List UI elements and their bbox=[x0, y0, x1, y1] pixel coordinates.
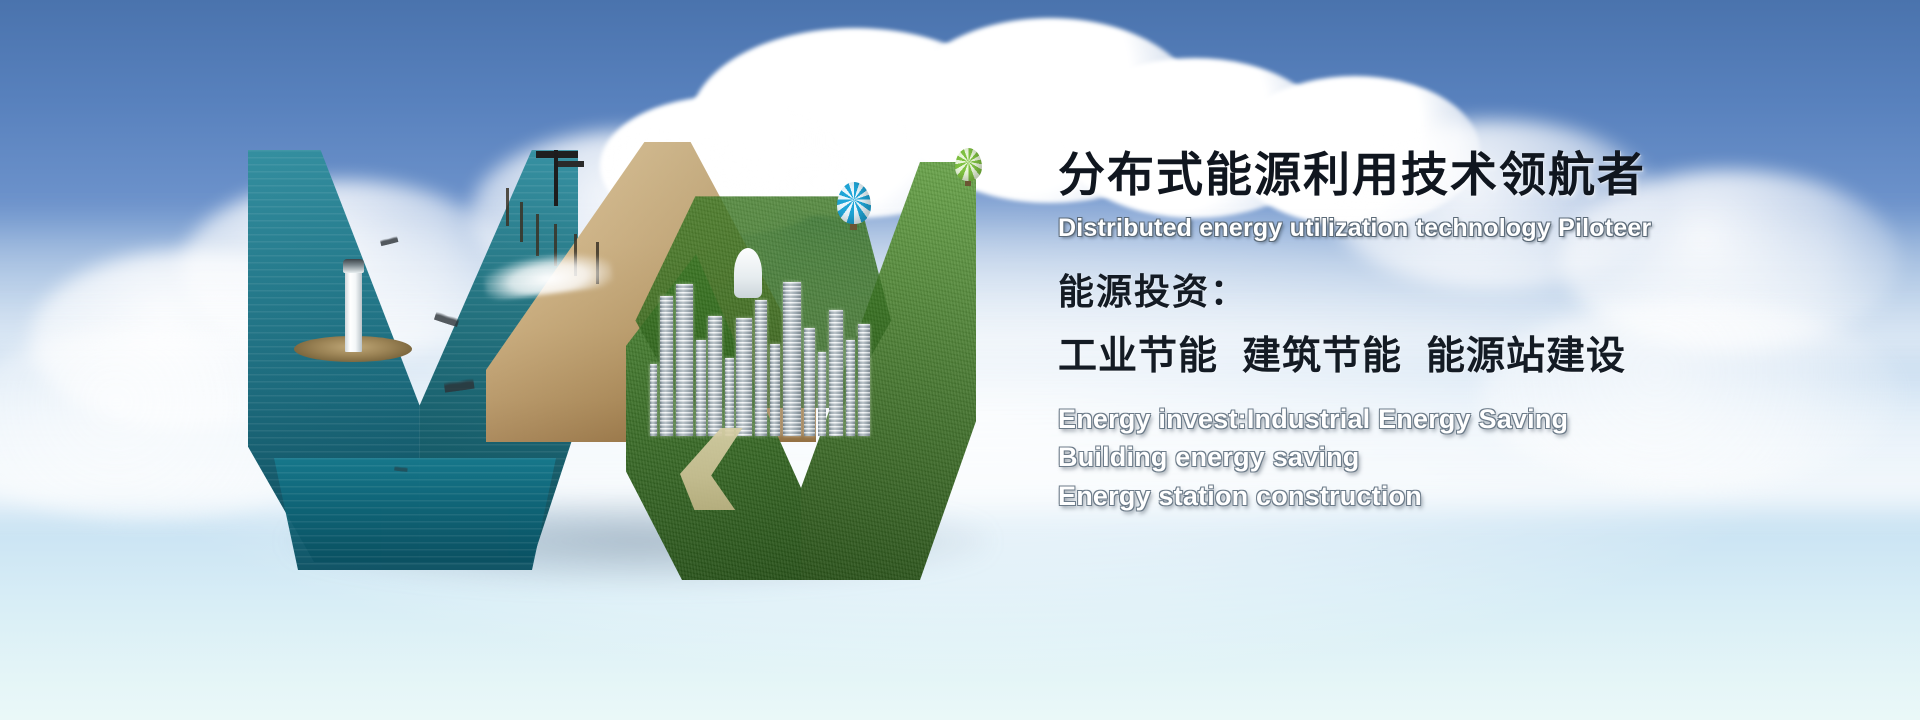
skyscraper-icon bbox=[676, 284, 693, 436]
lighthouse-lamp-icon bbox=[343, 259, 364, 273]
skyscraper-icon bbox=[858, 324, 870, 436]
skyscraper-icon bbox=[783, 282, 801, 436]
service-item-energy-station-construction: 能源站建设 bbox=[1426, 334, 1626, 379]
skyscraper-icon bbox=[660, 296, 673, 436]
service-line-english-3: Energy station construction bbox=[1058, 477, 1818, 515]
hero-banner: 分布式能源利用技术领航者 Distributed energy utilizat… bbox=[0, 0, 1920, 720]
lighthouse-icon bbox=[345, 270, 362, 352]
service-line-english-1: Energy invest:Industrial Energy Saving bbox=[1058, 400, 1818, 438]
skyscraper-icon bbox=[696, 340, 706, 436]
seagull-icon bbox=[380, 235, 399, 246]
skyscraper-icon bbox=[755, 300, 767, 436]
skyscraper-icon bbox=[846, 340, 855, 436]
w-letter-artwork bbox=[248, 128, 1038, 578]
skyscraper-icon bbox=[804, 328, 815, 436]
skyscraper-icon bbox=[829, 310, 843, 436]
skyscraper-icon bbox=[818, 352, 826, 436]
hot-air-balloon-icon bbox=[955, 148, 982, 181]
signpost-icon bbox=[554, 150, 558, 206]
signpost-arm-icon bbox=[558, 161, 584, 167]
fence-post-icon bbox=[506, 188, 509, 226]
section-label-energy-invest: 能源投资： bbox=[1058, 275, 1818, 311]
skyscraper-icon bbox=[650, 364, 657, 436]
water-ripple-texture bbox=[256, 458, 556, 570]
subtitle-english: Distributed energy utilization technolog… bbox=[1058, 216, 1818, 241]
skyscraper-icon bbox=[770, 344, 780, 436]
skyscraper-icon bbox=[725, 358, 734, 436]
ocean-front-face bbox=[256, 458, 556, 570]
service-line-english-2: Building energy saving bbox=[1058, 438, 1818, 476]
balloon-basket-icon bbox=[965, 181, 971, 186]
skyscraper-icon bbox=[736, 318, 752, 436]
fence-post-icon bbox=[536, 214, 539, 256]
page-title: 分布式能源利用技术领航者 bbox=[1058, 152, 1818, 199]
seagull-icon bbox=[434, 310, 460, 327]
service-list-english: Energy invest:Industrial Energy Saving B… bbox=[1058, 400, 1818, 515]
fence-post-icon bbox=[520, 202, 523, 242]
balloon-basket-icon bbox=[850, 224, 857, 230]
dome-building-icon bbox=[734, 248, 762, 298]
skyscraper-icon bbox=[708, 316, 722, 436]
hot-air-balloon-icon bbox=[837, 182, 871, 224]
service-list-chinese: 工业节能建筑节能能源站建设 bbox=[1058, 337, 1818, 376]
service-item-building-energy-saving: 建筑节能 bbox=[1242, 334, 1402, 379]
service-item-industrial-energy-saving: 工业节能 bbox=[1058, 334, 1218, 379]
banner-text-panel: 分布式能源利用技术领航者 Distributed energy utilizat… bbox=[1058, 152, 1818, 515]
city-skyline bbox=[646, 206, 916, 436]
